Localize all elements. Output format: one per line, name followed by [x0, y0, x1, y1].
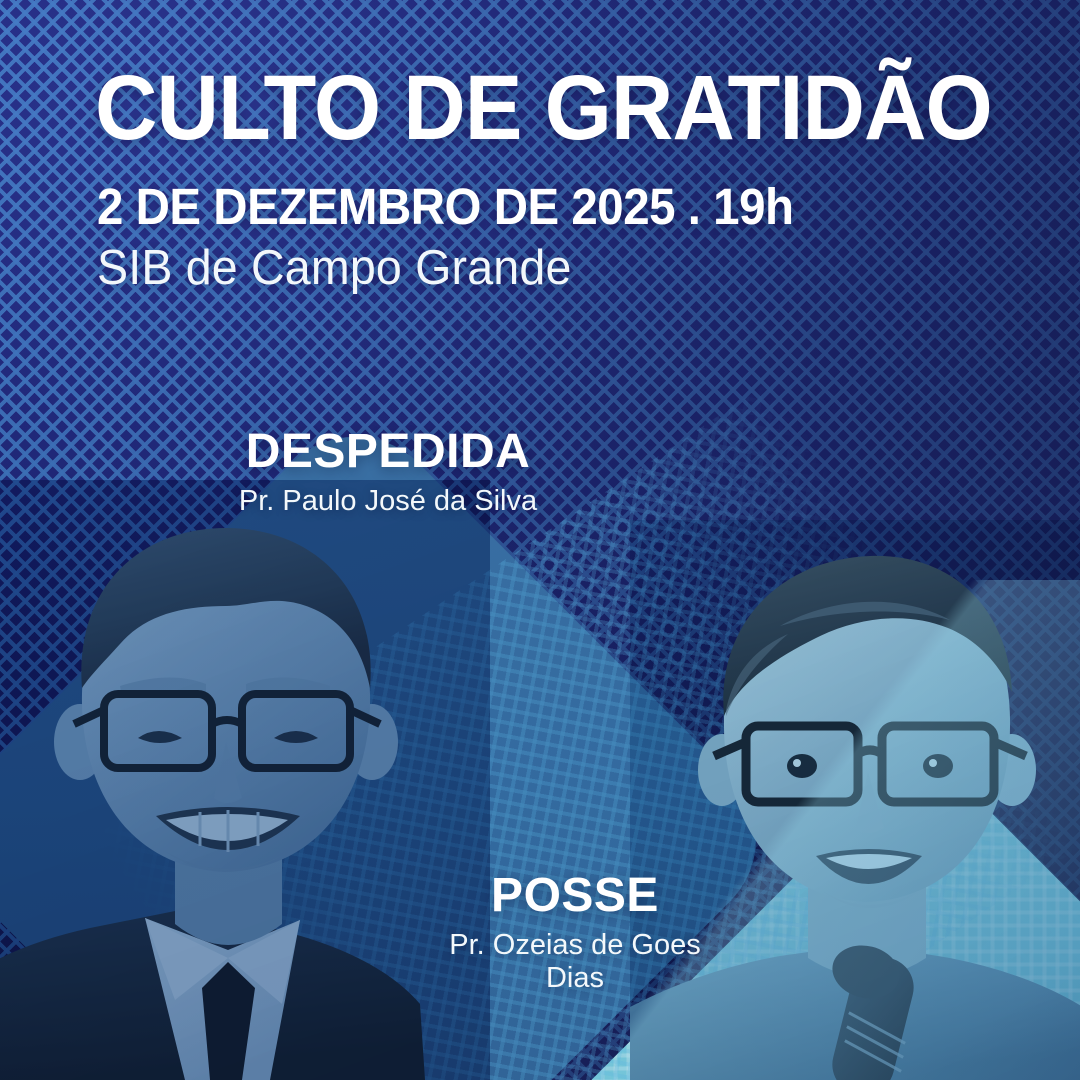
role-title-posse: POSSE — [420, 872, 730, 920]
role-title-despedida: DESPEDIDA — [228, 428, 548, 476]
event-venue: SIB de Campo Grande — [97, 242, 572, 296]
event-date-time: 2 DE DEZEMBRO DE 2025 . 19h — [97, 181, 793, 232]
role-name-posse: Pr. Ozeias de Goes Dias — [420, 929, 730, 996]
role-block-posse: POSSE Pr. Ozeias de Goes Dias — [420, 872, 730, 996]
role-block-despedida: DESPEDIDA Pr. Paulo José da Silva — [228, 428, 548, 518]
text-layer: CULTO DE GRATIDÃO 2 DE DEZEMBRO DE 2025 … — [0, 0, 1080, 1080]
poster-canvas: CULTO DE GRATIDÃO 2 DE DEZEMBRO DE 2025 … — [0, 0, 1080, 1080]
page-title: CULTO DE GRATIDÃO — [95, 69, 992, 148]
role-name-despedida: Pr. Paulo José da Silva — [228, 485, 548, 518]
